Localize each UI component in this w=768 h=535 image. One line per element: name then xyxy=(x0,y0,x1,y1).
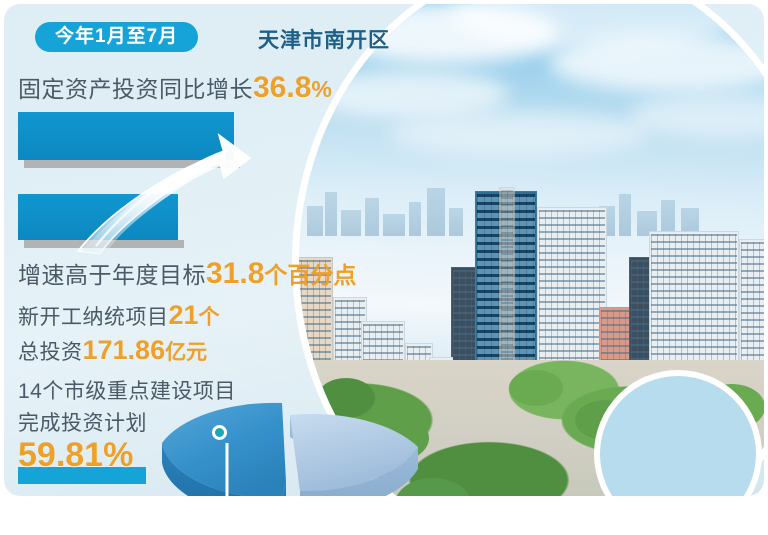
stat-total-investment: 总投资171.86亿元 xyxy=(18,335,207,366)
stat-growth-unit: % xyxy=(311,76,331,102)
stat-growth-value: 36.8 xyxy=(253,71,311,104)
bar-item xyxy=(18,194,178,240)
stat-total-investment-unit: 亿元 xyxy=(165,341,207,364)
stat-new-projects-unit: 个 xyxy=(199,306,220,329)
infographic-root: 今年1月至7月 天津市南开区 固定资产投资同比增长36.8% xyxy=(0,0,768,535)
stat-key-projects-value: 59.81% xyxy=(18,436,133,475)
stat-target-unit: 个百分点 xyxy=(264,262,356,288)
stat-new-projects-label: 新开工纳统项目 xyxy=(18,306,169,329)
stat-growth: 固定资产投资同比增长36.8% xyxy=(18,70,332,105)
stat-target-label: 增速高于年度目标 xyxy=(18,262,206,288)
bar-item xyxy=(18,112,234,160)
stat-new-projects-value: 21 xyxy=(169,300,199,330)
stat-growth-label: 固定资产投资同比增长 xyxy=(18,76,253,102)
pie-chart xyxy=(140,387,440,496)
bar-shadow xyxy=(24,240,184,248)
period-badge: 今年1月至7月 xyxy=(35,22,198,52)
pie-slice-completed xyxy=(162,403,286,496)
stat-total-investment-label: 总投资 xyxy=(18,341,83,364)
stat-target: 增速高于年度目标31.8个百分点 xyxy=(18,256,356,291)
region-title: 天津市南开区 xyxy=(258,24,390,54)
pie-callout-dot xyxy=(212,425,227,440)
cloud-decoration xyxy=(309,70,509,118)
background-panel: 今年1月至7月 天津市南开区 固定资产投资同比增长36.8% xyxy=(4,4,764,496)
stat-total-investment-value: 171.86 xyxy=(83,335,166,365)
bar-shadow xyxy=(24,160,240,168)
stat-new-projects: 新开工纳统项目21个 xyxy=(18,300,220,331)
cloud-decoration xyxy=(389,112,649,156)
stat-key-projects-line2: 完成投资计划 xyxy=(18,407,147,437)
bar-chart xyxy=(18,112,288,242)
stat-target-value: 31.8 xyxy=(206,257,264,290)
